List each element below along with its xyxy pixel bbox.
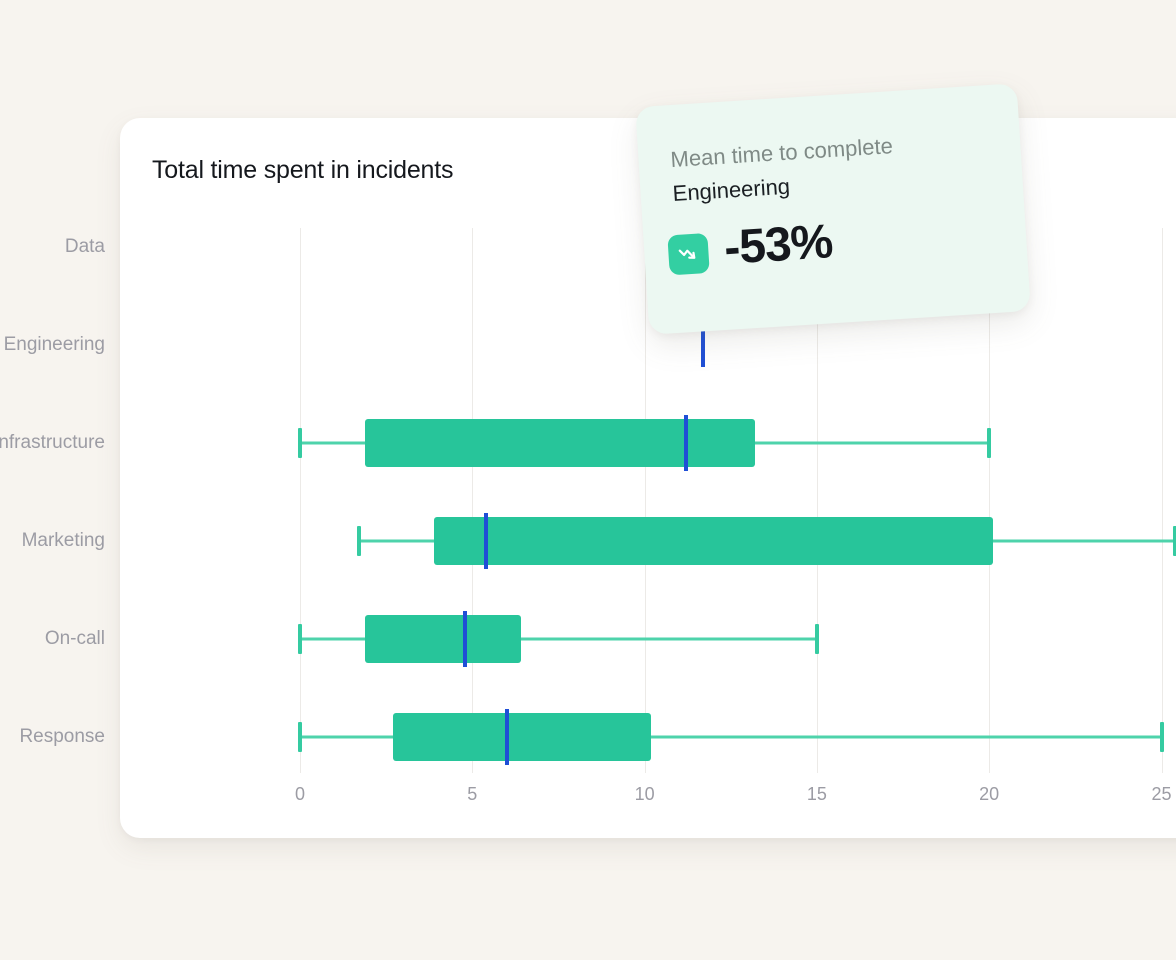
whisker-cap — [298, 428, 302, 458]
x-axis-tick-label: 25 — [1151, 784, 1171, 805]
page-title: Total time spent in incidents — [152, 156, 453, 185]
median-line — [505, 709, 509, 765]
whisker-cap — [815, 624, 819, 654]
whisker-cap — [987, 428, 991, 458]
box-iqr[interactable] — [365, 419, 754, 467]
median-line — [484, 513, 488, 569]
whisker-cap — [298, 624, 302, 654]
y-axis-category-label: Engineering — [4, 334, 105, 356]
metric-subject: Engineering — [672, 174, 791, 207]
metric-value: -53% — [723, 214, 834, 276]
y-axis-category-label: On-call — [45, 628, 105, 650]
gridline — [300, 228, 301, 773]
median-line — [684, 415, 688, 471]
x-axis-tick-label: 15 — [807, 784, 827, 805]
median-line — [463, 611, 467, 667]
x-axis-tick-label: 10 — [635, 784, 655, 805]
y-axis-category-label: Marketing — [22, 530, 105, 552]
box-iqr[interactable] — [365, 615, 520, 663]
x-axis-tick-label: 0 — [295, 784, 305, 805]
whisker-cap — [357, 526, 361, 556]
metric-label: Mean time to complete — [670, 133, 894, 173]
box-iqr[interactable] — [434, 517, 992, 565]
gridline — [472, 228, 473, 773]
y-axis-category-label: Infrastructure — [0, 432, 105, 454]
whisker-cap — [1160, 722, 1164, 752]
metric-tooltip-card[interactable]: Mean time to complete Engineering -53% — [635, 83, 1031, 335]
y-axis-category-label: Response — [19, 726, 105, 748]
trend-down-icon — [667, 233, 709, 275]
y-axis-category-label: Data — [65, 236, 105, 258]
gridline — [1162, 228, 1163, 773]
box-iqr[interactable] — [393, 713, 651, 761]
x-axis-tick-label: 20 — [979, 784, 999, 805]
gridline — [645, 228, 646, 773]
whisker-cap — [298, 722, 302, 752]
x-axis-tick-label: 5 — [467, 784, 477, 805]
